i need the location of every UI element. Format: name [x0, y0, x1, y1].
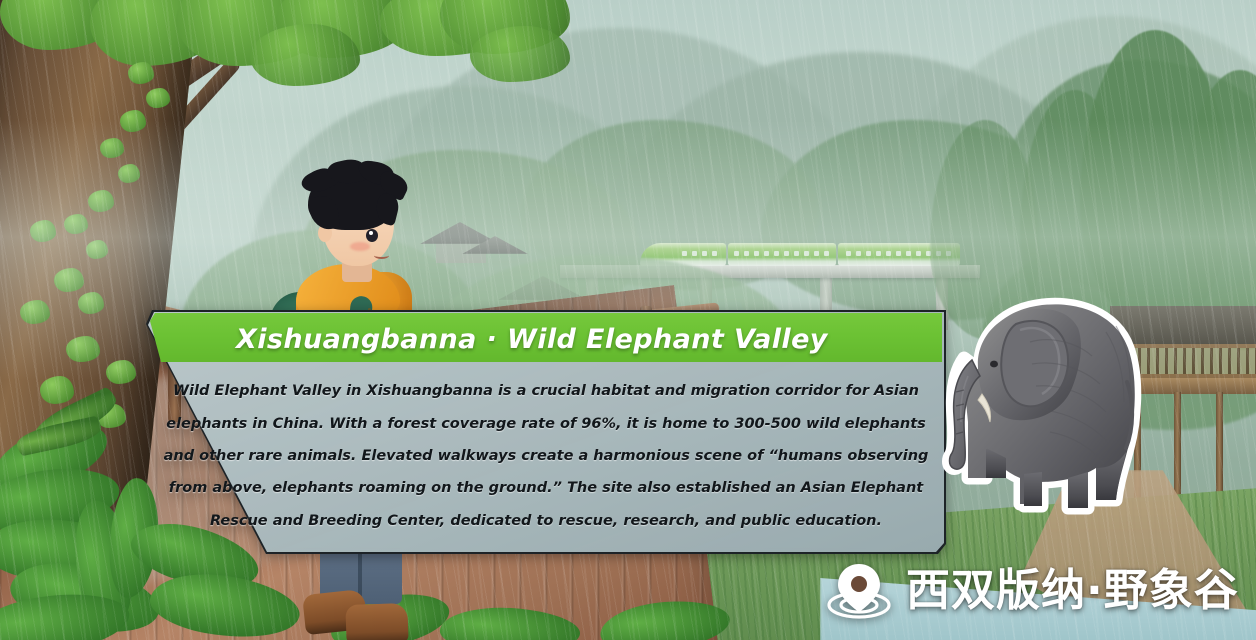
vine-leaf: [146, 88, 170, 108]
boy-blush: [350, 242, 370, 251]
boy-mouth: [374, 252, 389, 259]
page-title: Xishuangbanna · Wild Elephant Valley: [236, 324, 936, 355]
vine-leaf: [66, 336, 100, 362]
description-line: elephants in China. With a forest covera…: [166, 417, 926, 433]
elephant-eye: [990, 361, 998, 368]
location-badge: 西双版纳·野象谷: [826, 552, 1226, 630]
elephant-leg: [1024, 472, 1042, 506]
map-pin-ripple-icon: [826, 560, 892, 622]
description-line: from above, elephants roaming on the gro…: [169, 481, 923, 497]
vine-leaf: [88, 190, 114, 212]
vine-leaf: [128, 62, 154, 84]
poster-root: Xishuangbanna · Wild Elephant Valley Wil…: [0, 0, 1256, 640]
card-description: Wild Elephant Valley in Xishuangbanna is…: [186, 368, 906, 546]
vine-leaf: [40, 376, 74, 404]
vine-leaf: [20, 300, 50, 324]
vine-leaf: [118, 164, 140, 183]
info-card: Xishuangbanna · Wild Elephant Valley Wil…: [146, 310, 946, 554]
vine-leaf: [120, 110, 146, 132]
vine-leaf: [86, 240, 108, 259]
location-label: 西双版纳·野象谷: [906, 569, 1239, 613]
description-line: and other rare animals. Elevated walkway…: [164, 449, 929, 465]
elephant-leg: [1068, 472, 1088, 508]
vine-leaf: [30, 220, 56, 242]
vine-leaf: [78, 292, 104, 314]
leaf-cluster: [250, 24, 360, 86]
boy-boot: [345, 603, 408, 640]
leaf-cluster: [470, 26, 570, 82]
vine-leaf: [64, 214, 88, 234]
vine-leaf: [106, 360, 136, 384]
high-speed-train: [640, 243, 960, 266]
description-line: Rescue and Breeding Center, dedicated to…: [210, 514, 882, 530]
vine-leaf: [100, 138, 124, 158]
elephant-illustration: [920, 272, 1160, 536]
vine-leaf: [54, 268, 84, 292]
description-line: Wild Elephant Valley in Xishuangbanna is…: [173, 384, 919, 400]
boy-eye: [366, 229, 378, 242]
elephant-cutout-sticker: [920, 272, 1160, 536]
